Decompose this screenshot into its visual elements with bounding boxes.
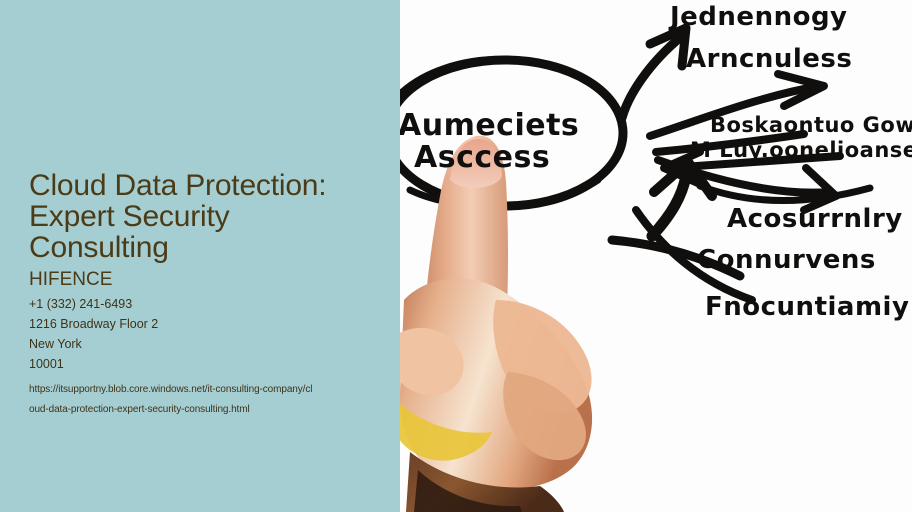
- source-url-line-2[interactable]: oud-data-protection-expert-security-cons…: [29, 400, 369, 420]
- contact-postal-code: 10001: [29, 354, 369, 374]
- text-stack: Cloud Data Protection: Expert Security C…: [29, 170, 369, 420]
- branch-label-4: M Luy.oonelioanse b: [690, 138, 912, 162]
- brand-name: HIFENCE: [29, 269, 369, 291]
- contact-street: 1216 Broadway Floor 2: [29, 314, 369, 334]
- promo-card: Cloud Data Protection: Expert Security C…: [0, 0, 912, 512]
- branch-label-7: Fnocuntiamiy: [705, 292, 909, 322]
- branch-label-5: Acosurrnlry: [727, 204, 903, 234]
- page-title: Cloud Data Protection: Expert Security C…: [29, 170, 369, 263]
- branch-label-2: Arncnuless: [686, 44, 852, 74]
- source-url[interactable]: https://itsupportny.blob.core.windows.ne…: [29, 380, 369, 420]
- center-node-ellipse-overdraw: [400, 60, 510, 100]
- contact-phone[interactable]: +1 (332) 241-6493: [29, 294, 369, 314]
- center-node-label-line-2: Asccess: [414, 140, 550, 175]
- left-info-panel: Cloud Data Protection: Expert Security C…: [0, 0, 400, 512]
- center-node-label-line-1: Aumeciets: [400, 108, 579, 143]
- contact-city: New York: [29, 334, 369, 354]
- branch-label-6: Connurvens: [697, 245, 876, 275]
- branch-label-1: Jednennogy: [670, 2, 848, 32]
- branch-arrow-1-shaft: [622, 36, 682, 118]
- branch-label-3: Boskaontuo Gowa: [710, 113, 912, 137]
- source-url-line-1[interactable]: https://itsupportny.blob.core.windows.ne…: [29, 380, 369, 400]
- right-illustration-panel: Aumeciets Asccess Jednennogy Arncnuless …: [400, 0, 912, 512]
